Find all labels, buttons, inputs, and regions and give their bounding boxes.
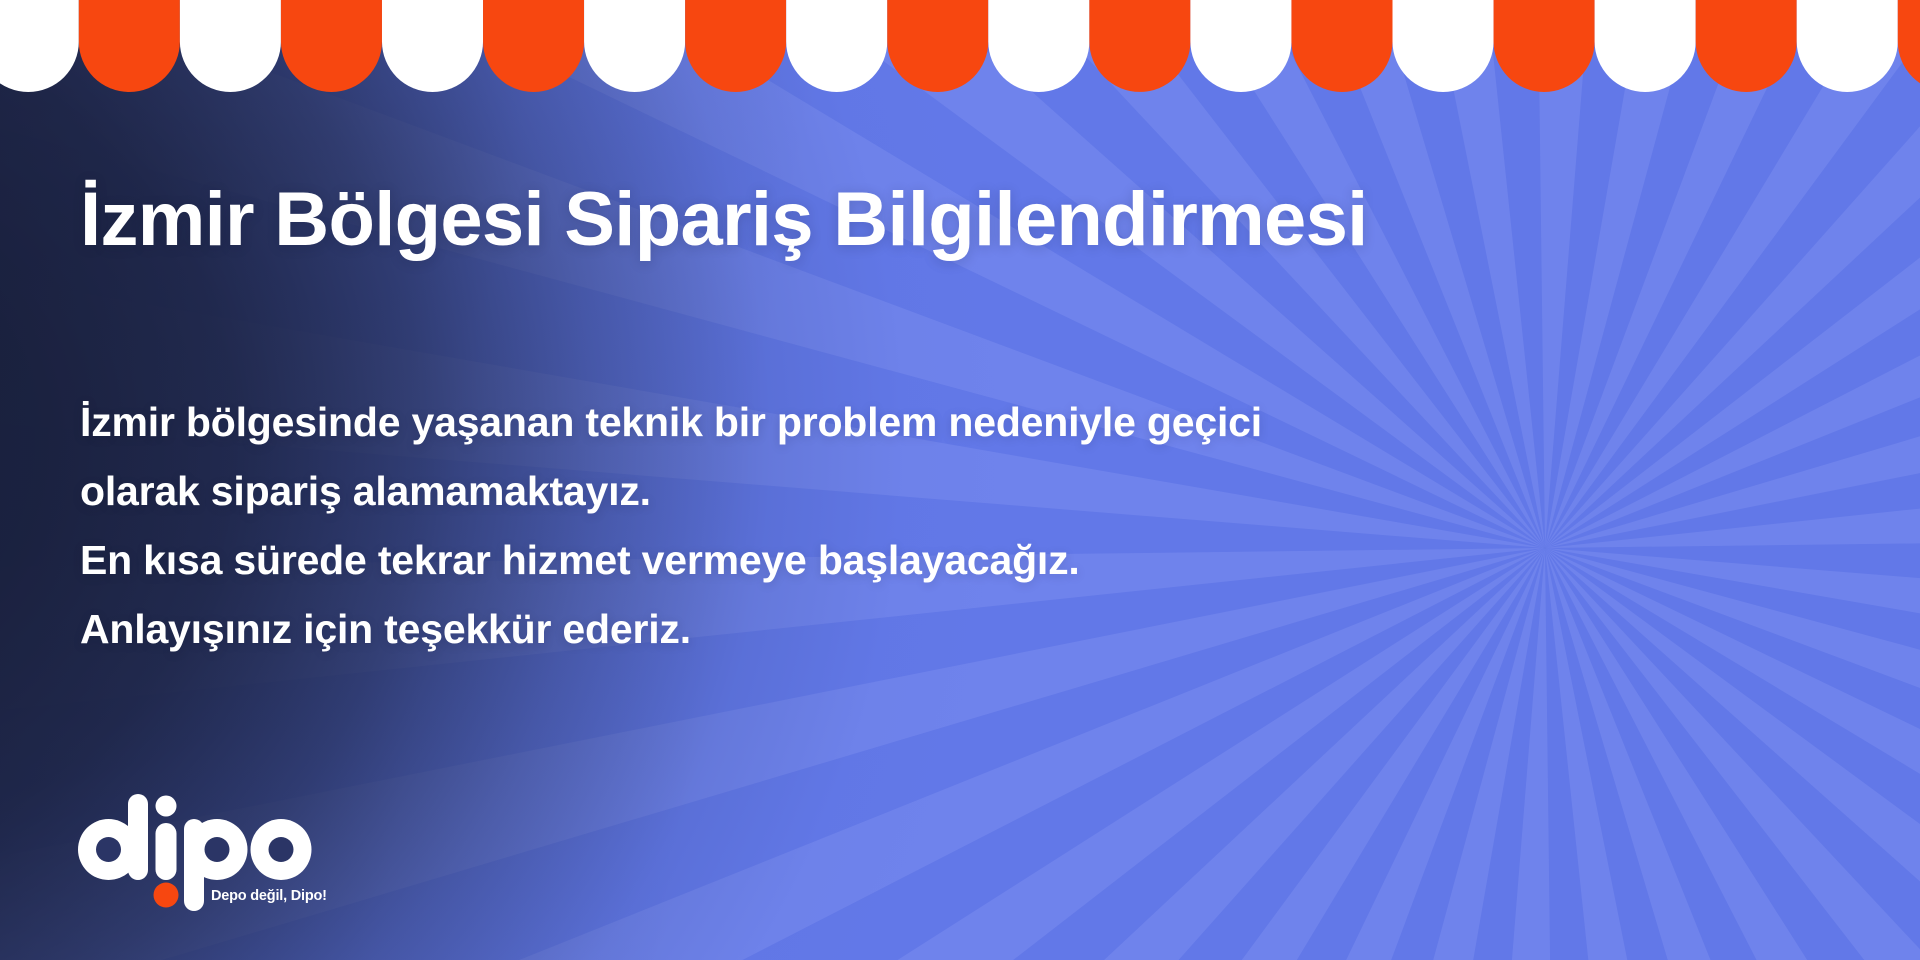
dipo-logo: Depo değil, Dipo!: [78, 792, 328, 912]
banner-content: İzmir Bölgesi Sipariş Bilgilendirmesi İz…: [0, 0, 1920, 960]
announcement-body: İzmir bölgesinde yaşanan teknik bir prob…: [80, 388, 1262, 664]
body-line-3: En kısa sürede tekrar hizmet vermeye baş…: [80, 526, 1262, 595]
logo-tagline: Depo değil, Dipo!: [211, 888, 327, 904]
page-title: İzmir Bölgesi Sipariş Bilgilendirmesi: [80, 182, 1368, 258]
promo-banner: İzmir Bölgesi Sipariş Bilgilendirmesi İz…: [0, 0, 1920, 960]
body-line-4: Anlayışınız için teşekkür ederiz.: [80, 595, 1262, 664]
logo-orange-dot: [154, 883, 179, 908]
body-line-1: İzmir bölgesinde yaşanan teknik bir prob…: [80, 388, 1262, 457]
body-line-2: olarak sipariş alamamaktayız.: [80, 457, 1262, 526]
